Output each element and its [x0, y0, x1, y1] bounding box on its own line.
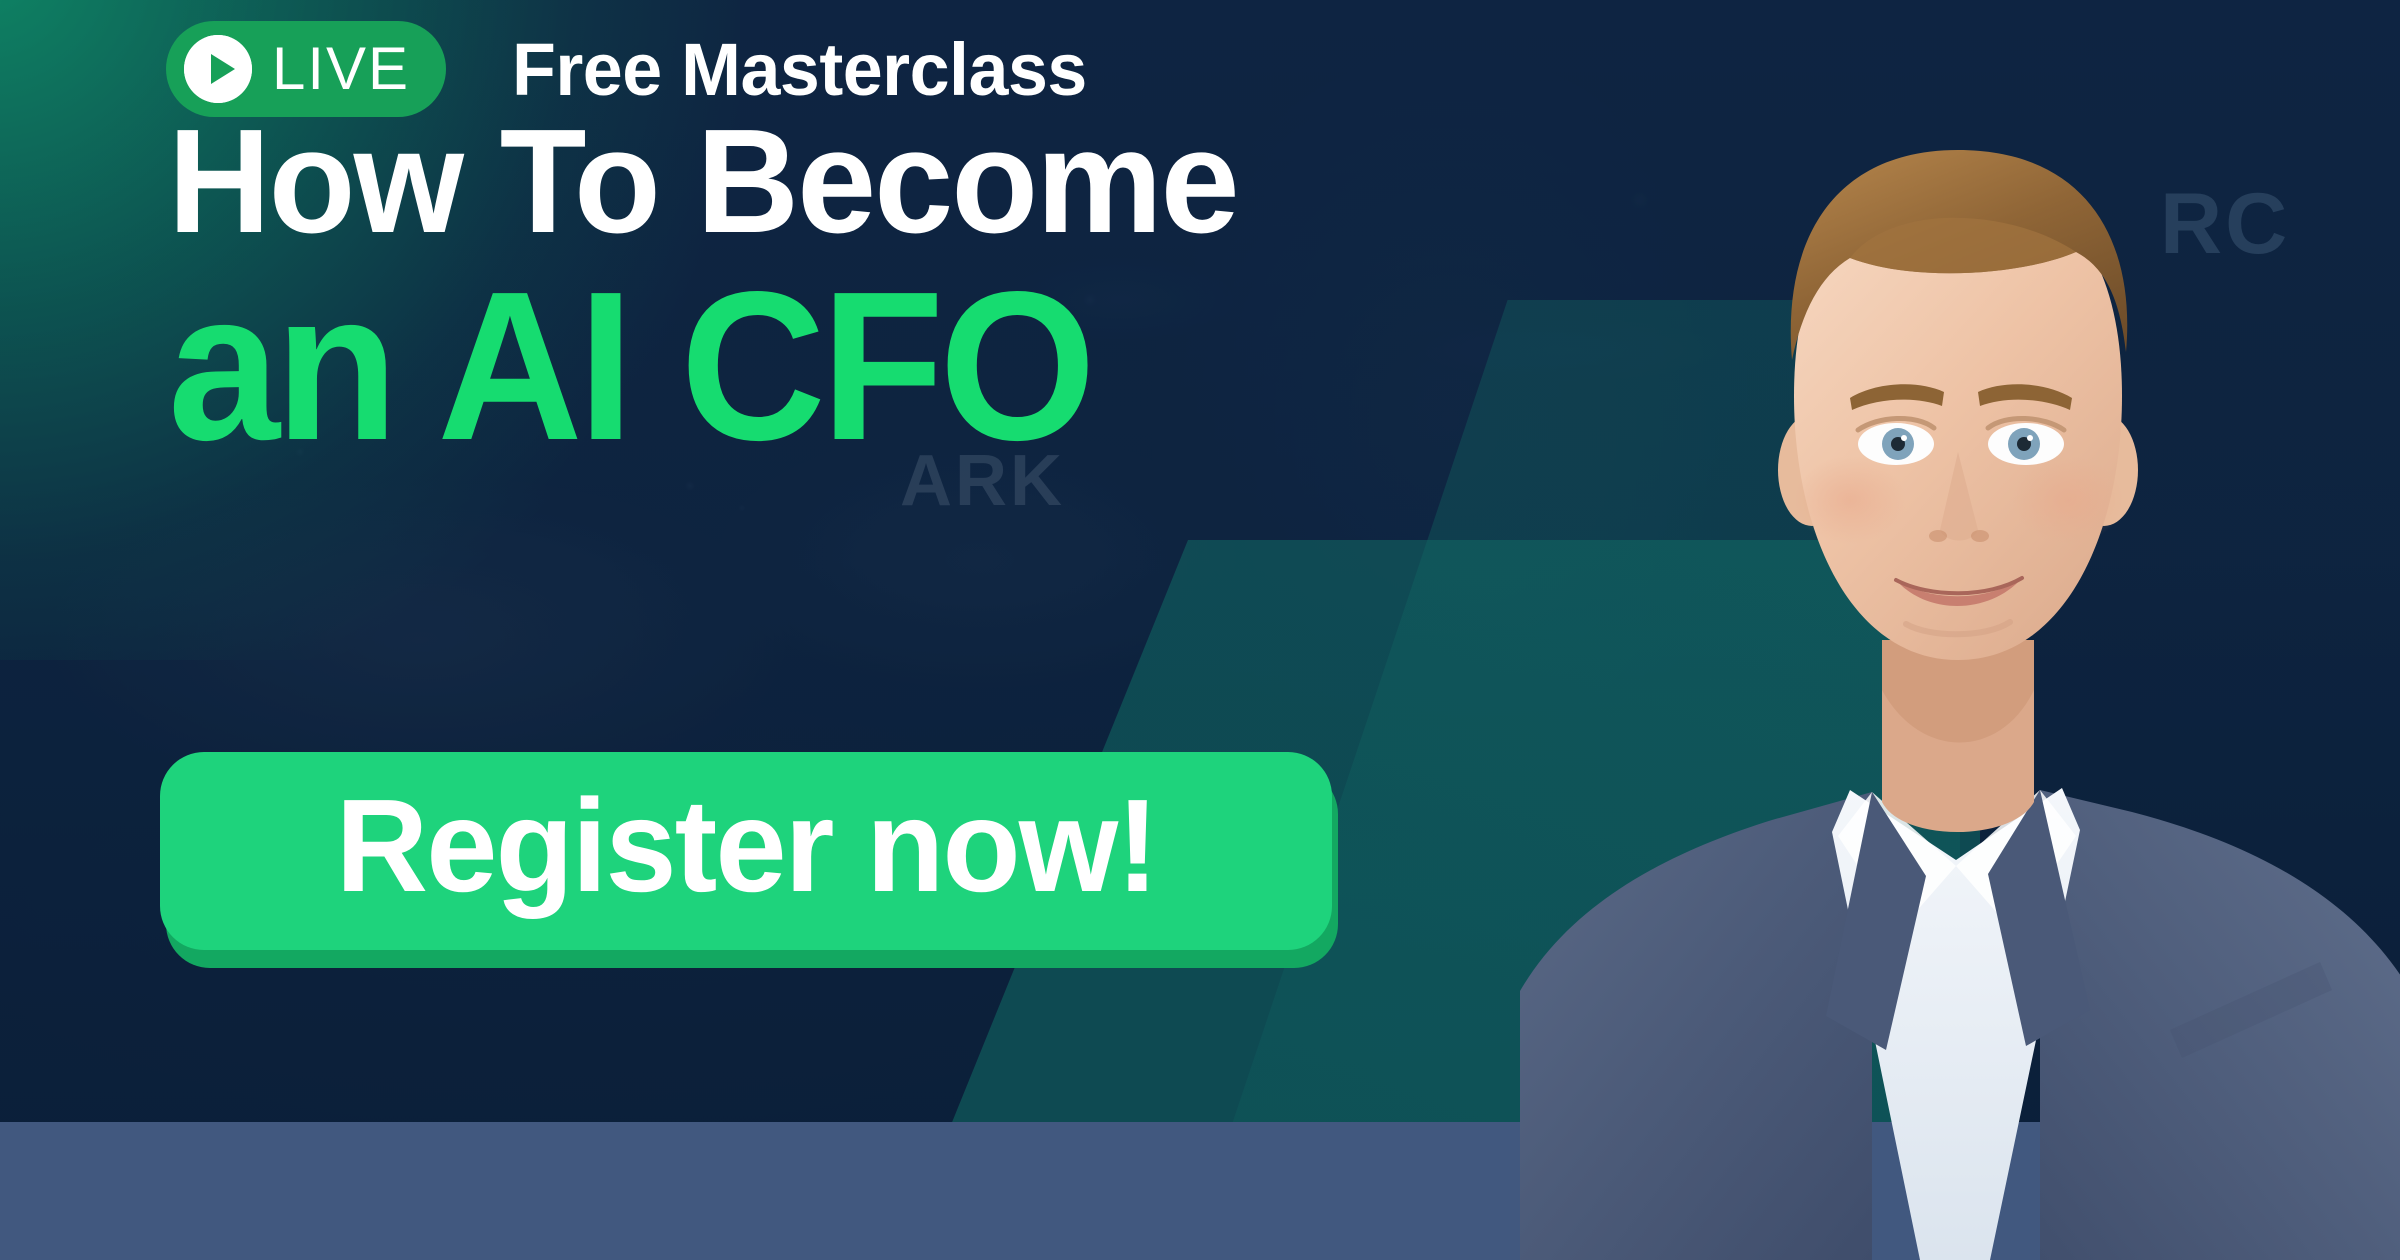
- play-icon: [184, 35, 252, 103]
- footer-content: LIVE Free Masterclass: [166, 0, 1105, 138]
- footer-bar: [0, 1122, 2400, 1260]
- live-badge-label: LIVE: [272, 39, 410, 99]
- footer-headline: Free Masterclass: [512, 27, 1087, 112]
- live-badge[interactable]: LIVE: [166, 21, 446, 117]
- headline-block: How To Become an AI CFO: [168, 108, 1282, 468]
- register-now-label: Register now!: [335, 770, 1156, 921]
- cta-container: Register now!: [160, 752, 1332, 950]
- promo-banner: ARK RC How To Become an AI CFO Register …: [0, 0, 2400, 1260]
- headline-line-2: an AI CFO: [168, 264, 1227, 468]
- register-now-button[interactable]: Register now!: [160, 752, 1332, 950]
